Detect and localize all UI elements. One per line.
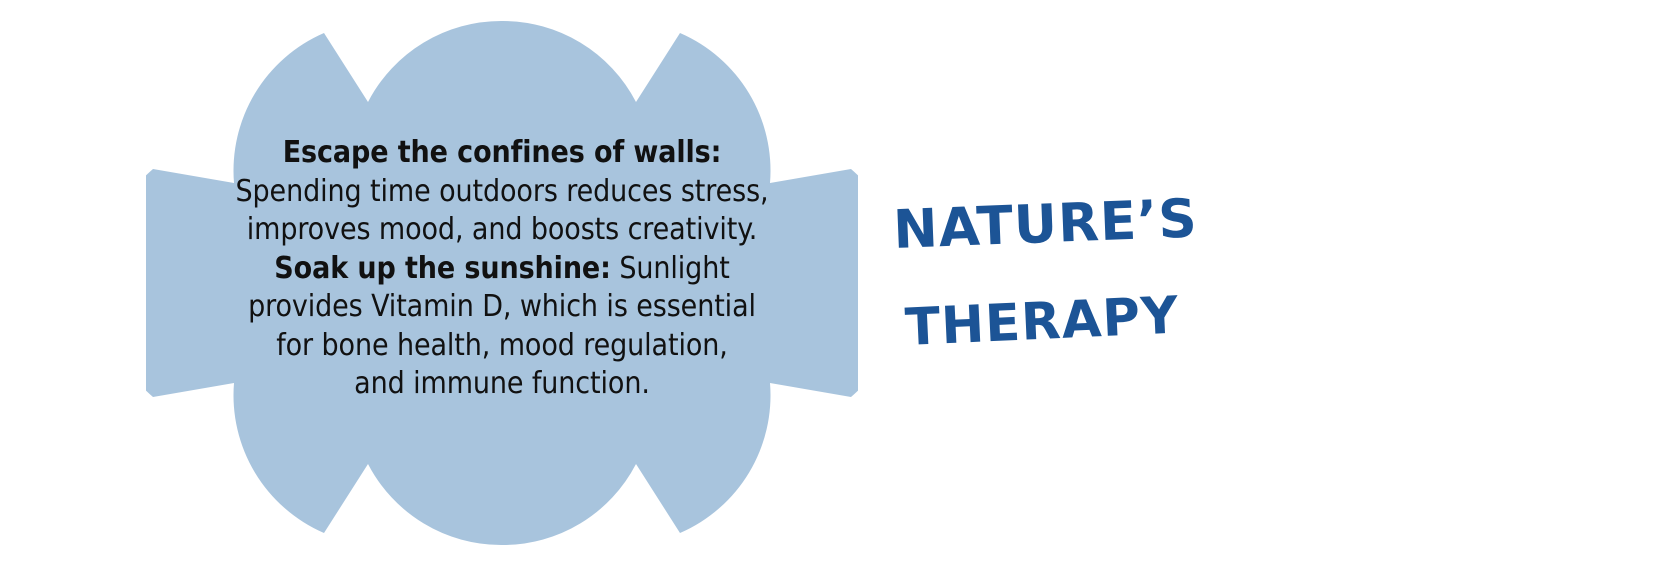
headline-line-2: THERAPY [904, 286, 1181, 358]
badge-line-4: Soak up the sunshine: Sunlight [218, 250, 786, 289]
badge-line-7: and immune function. [218, 365, 786, 404]
badge-line-1: Escape the confines of walls: [218, 134, 786, 173]
badge-line-6: for bone health, mood regulation, [218, 327, 786, 366]
badge-line-6-rest: for bone health, mood regulation, [276, 328, 728, 363]
badge-line-3: improves mood, and boosts creativity. [218, 211, 786, 250]
starburst-badge: Escape the confines of walls: Spending t… [146, 14, 858, 552]
headline-line-1: NATURE’S [892, 187, 1199, 261]
badge-body-text: Escape the confines of walls: Spending t… [218, 134, 786, 404]
badge-line-5: provides Vitamin D, which is essential [218, 288, 786, 327]
badge-line-3-rest: improves mood, and boosts creativity. [247, 212, 758, 247]
badge-line-4-rest: Sunlight [611, 251, 730, 286]
poster-canvas: Escape the confines of walls: Spending t… [0, 0, 1657, 567]
badge-line-1-lead: Escape the confines of walls: [283, 135, 722, 170]
badge-line-7-rest: and immune function. [354, 366, 650, 401]
badge-line-2: Spending time outdoors reduces stress, [218, 173, 786, 212]
badge-line-5-rest: provides Vitamin D, which is essential [248, 289, 756, 324]
badge-line-2-rest: Spending time outdoors reduces stress, [235, 174, 768, 209]
headline-natures-therapy: NATURE’S THERAPY [884, 160, 1244, 370]
badge-line-4-lead: Soak up the sunshine: [274, 251, 611, 286]
